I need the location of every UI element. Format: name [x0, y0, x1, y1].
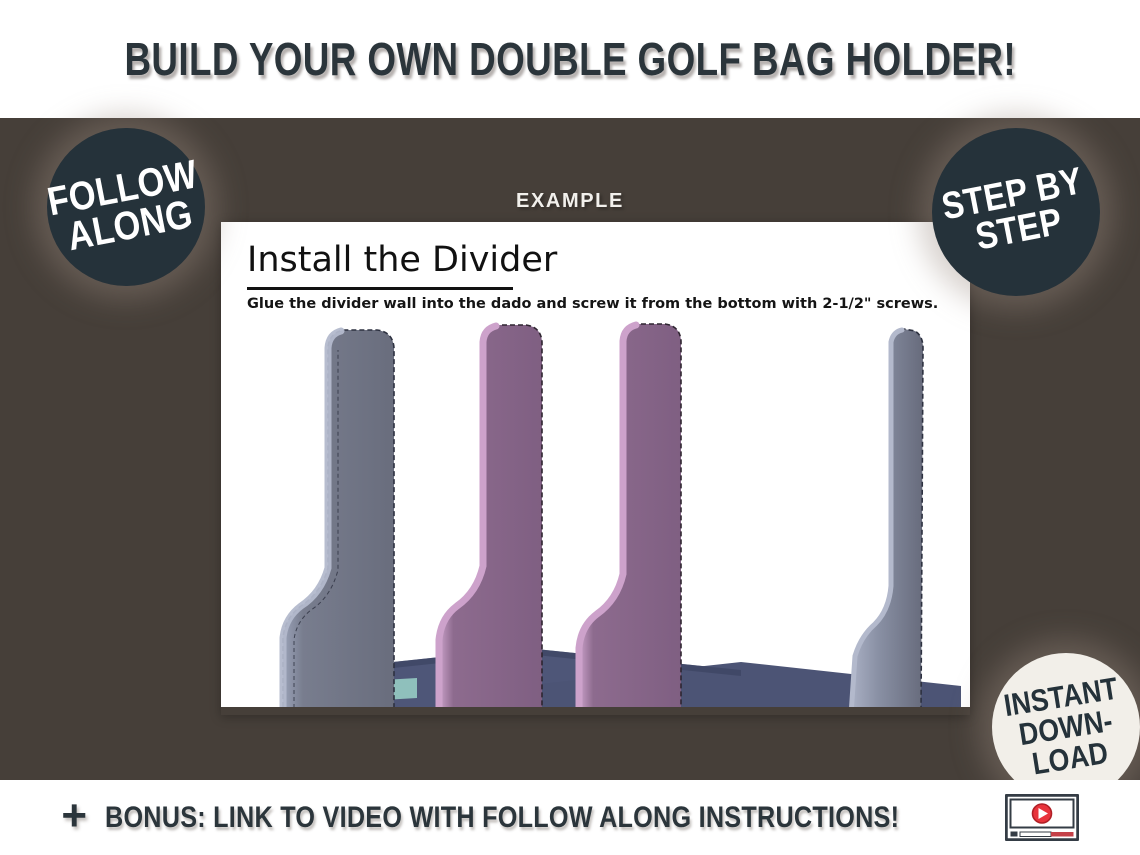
plus-icon: +	[61, 794, 87, 838]
title-band: BUILD YOUR OWN DOUBLE GOLF BAG HOLDER!	[0, 0, 1140, 118]
cad-panel-divider-pink-2	[579, 324, 681, 715]
cad-panel-divider-pink-1	[439, 325, 542, 715]
document-body-text: Glue the divider wall into the dado and …	[247, 296, 937, 312]
golf-bag-holder-cad-illustration	[221, 318, 970, 715]
page-title: BUILD YOUR OWN DOUBLE GOLF BAG HOLDER!	[124, 32, 1016, 86]
poster-root: BUILD YOUR OWN DOUBLE GOLF BAG HOLDER! E…	[0, 0, 1140, 855]
document-heading: Install the Divider	[247, 240, 557, 280]
bonus-bar: + BONUS: LINK TO VIDEO WITH FOLLOW ALONG…	[0, 780, 1140, 855]
badge-instant-download: INSTANT DOWN- LOAD	[992, 653, 1140, 801]
badge-follow-along: FOLLOW ALONG	[47, 128, 205, 286]
cad-panel-right-gray	[851, 329, 923, 715]
video-player-icon[interactable]	[1005, 794, 1079, 841]
example-document-card: Install the Divider Glue the divider wal…	[221, 222, 970, 715]
bonus-text: BONUS: LINK TO VIDEO WITH FOLLOW ALONG I…	[105, 801, 899, 835]
badge-step-by-step: STEP BY STEP	[932, 128, 1100, 296]
cad-panel-left-gray	[283, 330, 394, 715]
heading-underline	[247, 287, 513, 290]
